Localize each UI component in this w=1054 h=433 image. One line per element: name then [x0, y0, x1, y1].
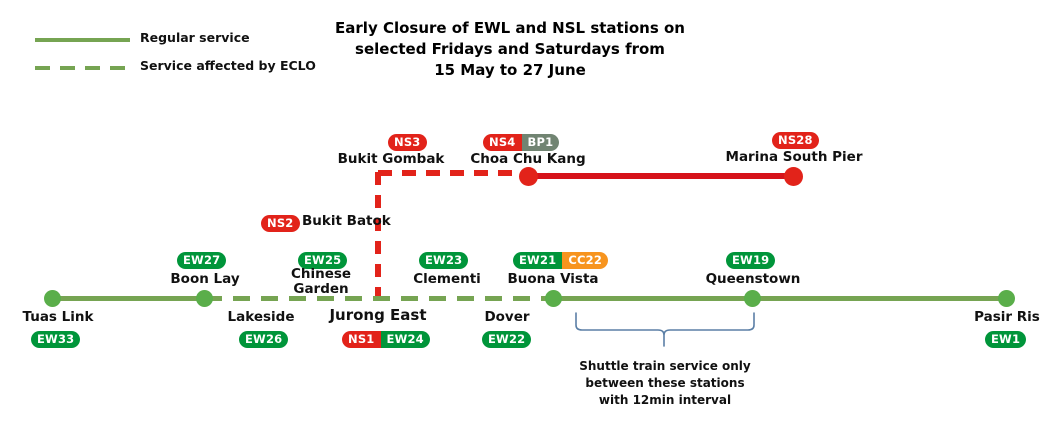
station-code-ew23: EW23 — [419, 252, 468, 269]
page-title-line-3: 15 May to 27 June — [310, 60, 710, 81]
station-code-badges-bukit-batok: NS2 — [261, 215, 300, 232]
legend-item-regular-label: Regular service — [140, 30, 250, 45]
station-code-badges-buona-vista: EW21 CC22 — [513, 252, 608, 269]
nsl-dashed-segment-horizontal — [378, 170, 530, 176]
station-code-badges-jurong-east: NS1 EW24 — [342, 331, 430, 348]
station-label-boon-lay: Boon Lay — [135, 272, 275, 287]
station-code-badges-tuas-link: EW33 — [31, 331, 80, 348]
station-code-badges-dover: EW22 — [482, 331, 531, 348]
station-code-ns2: NS2 — [261, 215, 300, 232]
station-code-ew33: EW33 — [31, 331, 80, 348]
station-code-badges-lakeside: EW26 — [239, 331, 288, 348]
page-title: Early Closure of EWL and NSL stations on… — [310, 18, 710, 81]
station-label-queenstown: Queenstown — [688, 272, 818, 287]
ewl-solid-segment-west — [50, 296, 210, 301]
station-label-bukit-batok: Bukit Batok — [302, 214, 412, 229]
station-label-chinese-garden-line2: Garden — [278, 282, 364, 297]
station-dot-boon-lay[interactable] — [196, 290, 213, 307]
station-code-ew26: EW26 — [239, 331, 288, 348]
station-dot-pasir-ris[interactable] — [998, 290, 1015, 307]
station-label-chinese-garden: Chinese Garden — [278, 267, 364, 297]
shuttle-service-caption-line2: between these stations — [560, 375, 770, 392]
station-dot-queenstown[interactable] — [744, 290, 761, 307]
station-label-marina-south-pier: Marina South Pier — [709, 150, 879, 165]
station-code-badges-choa-chu-kang: NS4 BP1 — [483, 134, 559, 151]
station-code-ns3: NS3 — [388, 134, 427, 151]
station-code-badges-queenstown: EW19 — [726, 252, 775, 269]
nsl-solid-segment — [528, 173, 796, 179]
page-title-line-2: selected Fridays and Saturdays from — [310, 39, 710, 60]
legend: Regular service Service affected by ECLO — [0, 0, 300, 95]
station-dot-tuas-link[interactable] — [44, 290, 61, 307]
station-label-pasir-ris: Pasir Ris — [942, 310, 1054, 325]
station-code-badges-marina-south-pier: NS28 — [772, 132, 819, 149]
station-code-ew22: EW22 — [482, 331, 531, 348]
station-code-ns4: NS4 — [483, 134, 522, 151]
station-dot-marina-south-pier[interactable] — [784, 167, 803, 186]
nsl-dashed-segment-vertical — [375, 172, 381, 300]
shuttle-service-caption: Shuttle train service only between these… — [560, 358, 770, 409]
station-code-bp1: BP1 — [522, 134, 560, 151]
station-code-badges-pasir-ris: EW1 — [985, 331, 1026, 348]
station-code-ew1: EW1 — [985, 331, 1026, 348]
station-code-ns1: NS1 — [342, 331, 381, 348]
shuttle-span-brace — [574, 312, 756, 348]
station-code-ew27: EW27 — [177, 252, 226, 269]
station-code-badges-bukit-gombak: NS3 — [388, 134, 427, 151]
station-label-dover: Dover — [442, 310, 572, 325]
legend-solid-line-swatch — [35, 38, 130, 42]
shuttle-service-caption-line1: Shuttle train service only — [560, 358, 770, 375]
station-code-ew19: EW19 — [726, 252, 775, 269]
ewl-dashed-segment — [205, 296, 557, 301]
station-label-choa-chu-kang: Choa Chu Kang — [443, 152, 613, 167]
station-label-lakeside: Lakeside — [196, 310, 326, 325]
station-code-cc22: CC22 — [562, 252, 608, 269]
station-code-ew24: EW24 — [381, 331, 430, 348]
station-label-tuas-link: Tuas Link — [0, 310, 128, 325]
shuttle-service-caption-line3: with 12min interval — [560, 392, 770, 409]
ewl-solid-segment-east — [553, 296, 1008, 301]
legend-item-eclo-label: Service affected by ECLO — [140, 58, 316, 73]
station-code-badges-clementi: EW23 — [419, 252, 468, 269]
station-label-jurong-east: Jurong East — [313, 308, 443, 323]
station-code-ew21: EW21 — [513, 252, 562, 269]
station-code-badges-boon-lay: EW27 — [177, 252, 226, 269]
station-dot-buona-vista[interactable] — [545, 290, 562, 307]
legend-dashed-line-swatch — [35, 66, 130, 70]
station-code-ns28: NS28 — [772, 132, 819, 149]
page-title-line-1: Early Closure of EWL and NSL stations on — [310, 18, 710, 39]
station-label-chinese-garden-line1: Chinese — [278, 267, 364, 282]
station-label-buona-vista: Buona Vista — [488, 272, 618, 287]
station-dot-choa-chu-kang[interactable] — [519, 167, 538, 186]
